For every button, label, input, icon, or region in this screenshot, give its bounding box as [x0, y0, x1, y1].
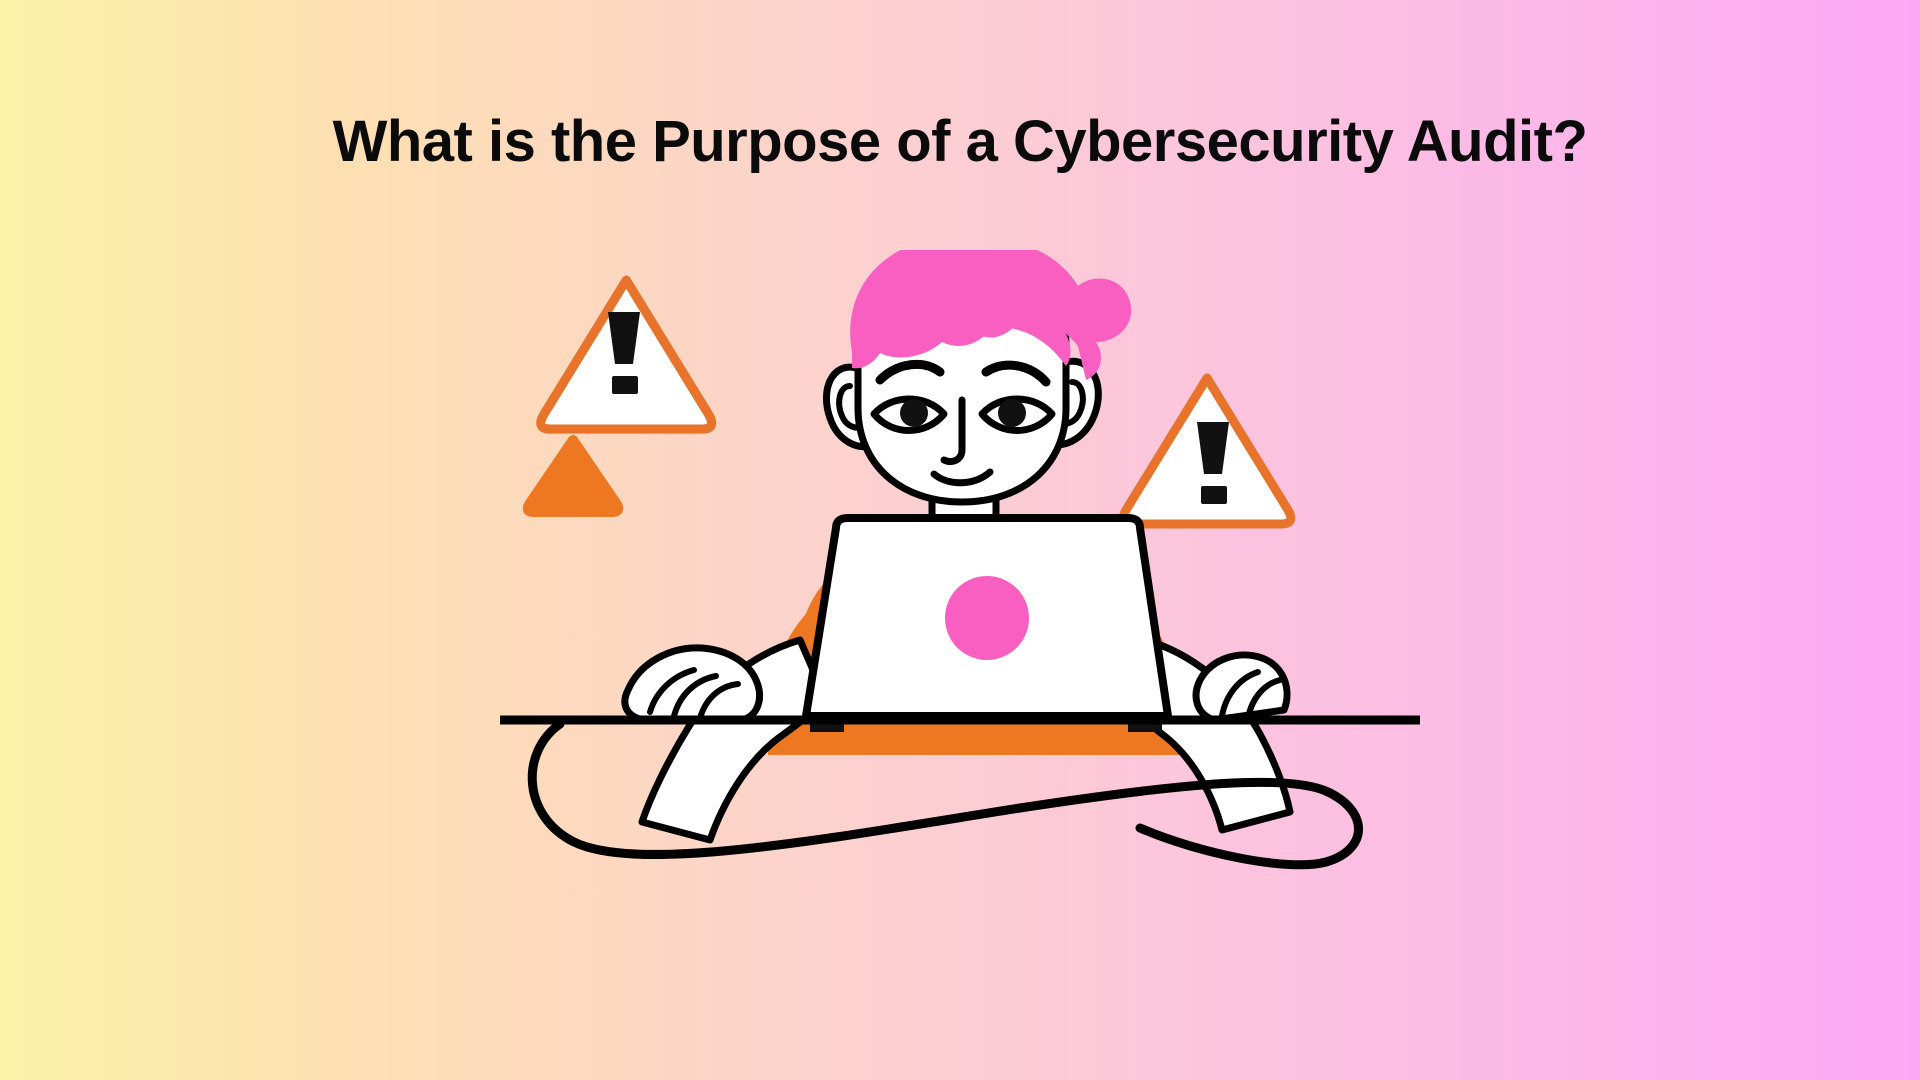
hero-illustration	[500, 250, 1420, 950]
warning-triangle-left-icon	[541, 280, 712, 429]
laptop	[806, 518, 1168, 732]
warning-triangle-right-icon	[1123, 378, 1291, 524]
page-title: What is the Purpose of a Cybersecurity A…	[0, 108, 1920, 175]
accent-triangle-orange-icon	[528, 440, 619, 512]
page-canvas: What is the Purpose of a Cybersecurity A…	[0, 0, 1920, 1080]
person-right-hand	[1196, 655, 1287, 720]
person-head	[826, 250, 1131, 502]
laptop-logo	[945, 576, 1029, 660]
person-left-hand	[625, 648, 760, 720]
illustration-svg	[500, 250, 1420, 950]
